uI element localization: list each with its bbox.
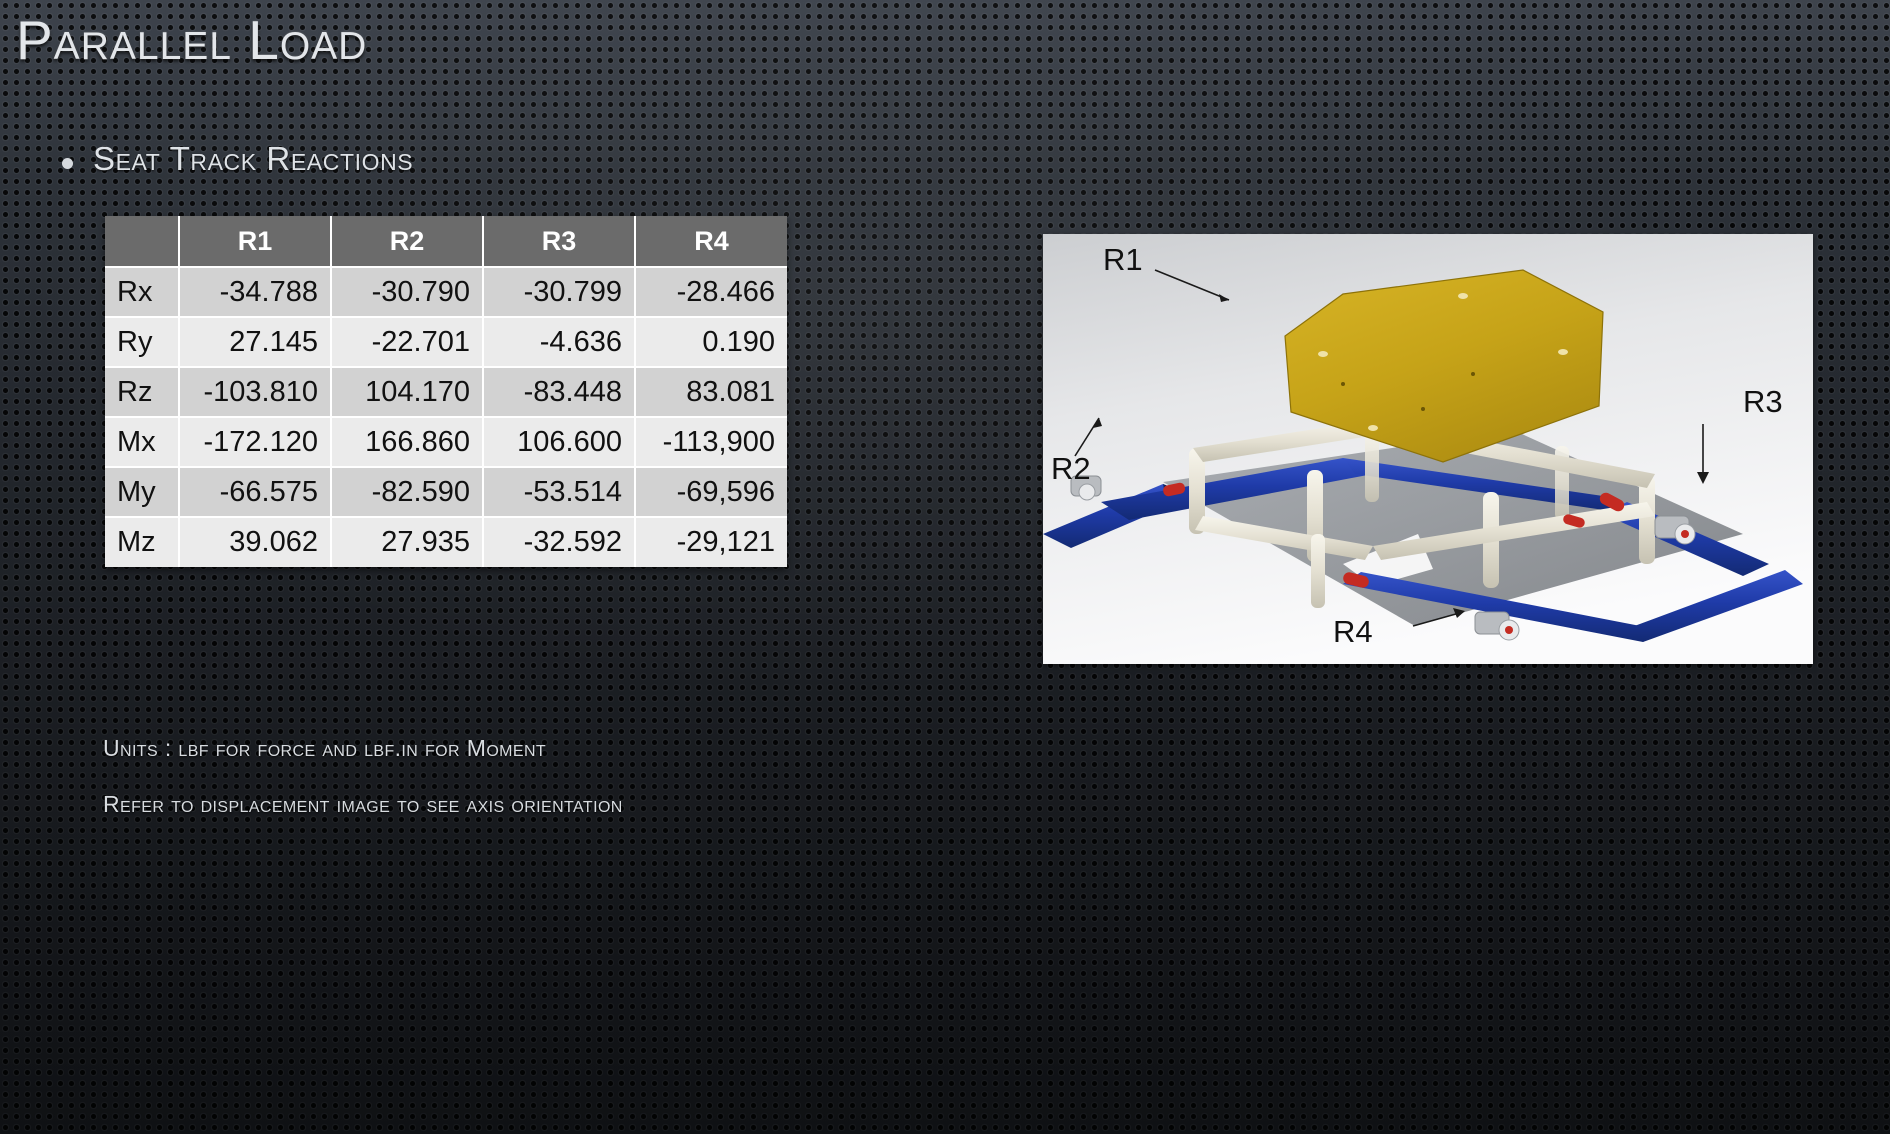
row-label-mx: Mx	[105, 417, 179, 467]
cell-ry-r1: 27.145	[179, 317, 331, 367]
row-label-rz: Rz	[105, 367, 179, 417]
row-label-ry: Ry	[105, 317, 179, 367]
cell-mz-r2: 27.935	[331, 517, 483, 567]
tube-upright	[1311, 534, 1325, 608]
cell-rx-r3: -30.799	[483, 267, 635, 317]
cell-mz-r3: -32.592	[483, 517, 635, 567]
plate-fastener	[1318, 351, 1328, 357]
column-header-r4: R4	[635, 216, 787, 267]
table-row: Mx -172.120 166.860 106.600 -113,900	[105, 417, 787, 467]
cell-ry-r3: -4.636	[483, 317, 635, 367]
cell-mx-r1: -172.120	[179, 417, 331, 467]
plate-fastener	[1368, 425, 1378, 431]
cell-rx-r2: -30.790	[331, 267, 483, 317]
cell-mx-r3: 106.600	[483, 417, 635, 467]
table-head: R1 R2 R3 R4	[105, 216, 787, 267]
cell-my-r3: -53.514	[483, 467, 635, 517]
table-header-row: R1 R2 R3 R4	[105, 216, 787, 267]
column-header-r3: R3	[483, 216, 635, 267]
column-header-r1: R1	[179, 216, 331, 267]
caption-units: Units : lbf for force and lbf.in for Mom…	[103, 735, 546, 762]
cell-mx-r4: -113,900	[635, 417, 787, 467]
plate-hole	[1341, 382, 1345, 386]
table-row: Ry 27.145 -22.701 -4.636 0.190	[105, 317, 787, 367]
cell-my-r4: -69,596	[635, 467, 787, 517]
cad-label-r3: R3	[1743, 384, 1783, 420]
cad-render-illustration	[1043, 234, 1813, 664]
cell-mx-r2: 166.860	[331, 417, 483, 467]
cad-render-panel: R1 R2 R3 R4	[1043, 234, 1813, 664]
caption-refer: Refer to displacement image to see axis …	[103, 791, 623, 818]
cad-label-r1: R1	[1103, 242, 1143, 278]
page-title: Parallel Load	[16, 8, 367, 72]
cell-my-r2: -82.590	[331, 467, 483, 517]
cell-rz-r1: -103.810	[179, 367, 331, 417]
cell-rx-r1: -34.788	[179, 267, 331, 317]
plate-fastener	[1558, 349, 1568, 355]
bullet-dot-icon	[62, 158, 73, 169]
column-header-r2: R2	[331, 216, 483, 267]
cell-mz-r1: 39.062	[179, 517, 331, 567]
table-corner-header	[105, 216, 179, 267]
plate-fastener	[1458, 293, 1468, 299]
table-row: My -66.575 -82.590 -53.514 -69,596	[105, 467, 787, 517]
plate-hole	[1421, 407, 1425, 411]
bullet-heading: Seat Track Reactions	[62, 140, 413, 178]
plate-hole	[1471, 372, 1475, 376]
cell-my-r1: -66.575	[179, 467, 331, 517]
cell-rx-r4: -28.466	[635, 267, 787, 317]
row-label-my: My	[105, 467, 179, 517]
table-row: Rx -34.788 -30.790 -30.799 -28.466	[105, 267, 787, 317]
cell-mz-r4: -29,121	[635, 517, 787, 567]
cell-rz-r2: 104.170	[331, 367, 483, 417]
cad-label-r4: R4	[1333, 614, 1373, 650]
slide-canvas: Parallel Load Seat Track Reactions R1 R2…	[0, 0, 1890, 1134]
cell-ry-r4: 0.190	[635, 317, 787, 367]
cell-rz-r4: 83.081	[635, 367, 787, 417]
table-row: Mz 39.062 27.935 -32.592 -29,121	[105, 517, 787, 567]
bullet-heading-label: Seat Track Reactions	[93, 140, 413, 178]
row-label-mz: Mz	[105, 517, 179, 567]
row-label-rx: Rx	[105, 267, 179, 317]
table-body: Rx -34.788 -30.790 -30.799 -28.466 Ry 27…	[105, 267, 787, 567]
cell-rz-r3: -83.448	[483, 367, 635, 417]
seat-track-reactions-table-container: R1 R2 R3 R4 Rx -34.788 -30.790 -30.799 -…	[105, 216, 787, 567]
table-row: Rz -103.810 104.170 -83.448 83.081	[105, 367, 787, 417]
seat-track-reactions-table: R1 R2 R3 R4 Rx -34.788 -30.790 -30.799 -…	[105, 216, 787, 567]
cell-ry-r2: -22.701	[331, 317, 483, 367]
cad-label-r2: R2	[1051, 451, 1091, 487]
tube-upright	[1639, 476, 1655, 564]
